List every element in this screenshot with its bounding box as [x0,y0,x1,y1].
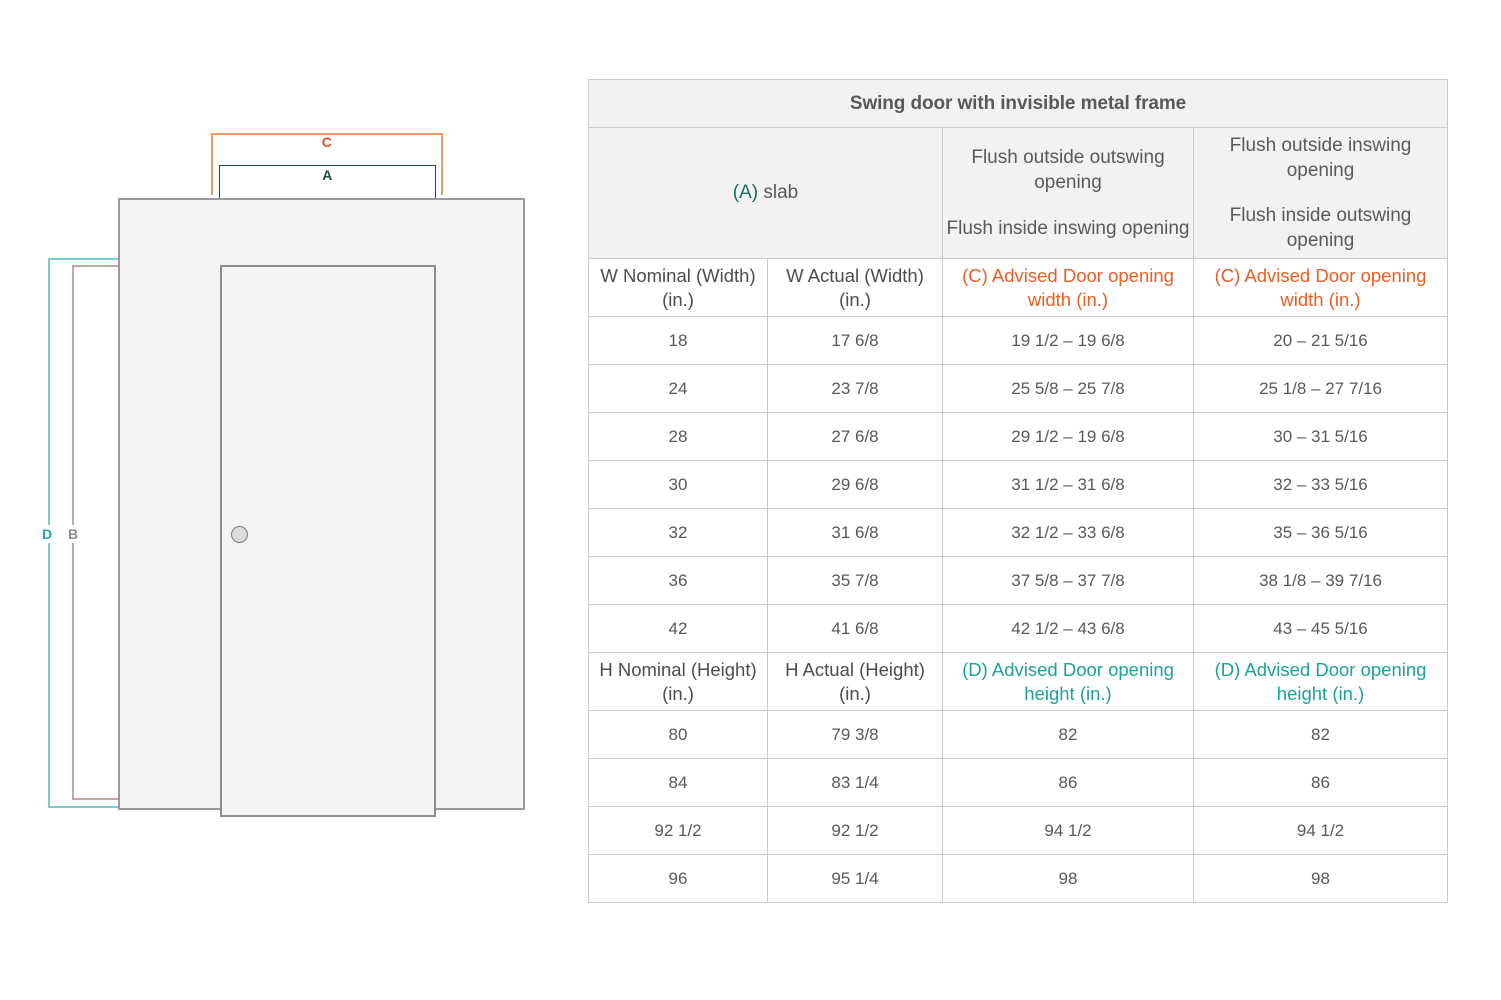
table-row: 96 95 1/4 98 98 [589,855,1448,903]
cell-h-open-inswing: 82 [1194,711,1448,759]
cell-w-nominal: 24 [589,365,768,413]
dimension-label-d: D [41,525,53,543]
cell-h-nominal: 84 [589,759,768,807]
table-row: 80 79 3/8 82 82 [589,711,1448,759]
dimension-label-b: B [67,525,79,543]
height-header-nominal: H Nominal (Height) (in.) [589,653,768,711]
group-header-slab-code: (A) [733,182,758,203]
cell-h-open-inswing: 98 [1194,855,1448,903]
cell-w-actual: 41 6/8 [768,605,943,653]
group-header-inswing-line1: Flush outside inswing opening [1194,133,1447,183]
cell-h-open-inswing: 86 [1194,759,1448,807]
cell-w-actual: 29 6/8 [768,461,943,509]
cell-w-nominal: 28 [589,413,768,461]
table-row: 28 27 6/8 29 1/2 – 19 6/8 30 – 31 5/16 [589,413,1448,461]
cell-w-open-outswing: 31 1/2 – 31 6/8 [943,461,1194,509]
table-group-header-row: (A) slab Flush outside outswing opening … [589,128,1448,259]
cell-w-open-inswing: 25 1/8 – 27 7/16 [1194,365,1448,413]
door-slab [220,265,436,817]
cell-w-nominal: 32 [589,509,768,557]
cell-h-actual: 79 3/8 [768,711,943,759]
cell-h-open-outswing: 98 [943,855,1194,903]
width-header-nominal: W Nominal (Width) (in.) [589,259,768,317]
cell-w-actual: 27 6/8 [768,413,943,461]
door-size-table: Swing door with invisible metal frame (A… [588,79,1448,903]
cell-w-open-inswing: 38 1/8 – 39 7/16 [1194,557,1448,605]
cell-h-actual: 92 1/2 [768,807,943,855]
cell-w-open-outswing: 19 1/2 – 19 6/8 [943,317,1194,365]
door-handle-icon [231,526,248,543]
group-header-outswing: Flush outside outswing opening Flush ins… [943,128,1194,259]
table-row: 84 83 1/4 86 86 [589,759,1448,807]
height-header-opening-outswing: (D) Advised Door opening height (in.) [943,653,1194,711]
cell-h-actual: 83 1/4 [768,759,943,807]
cell-w-open-outswing: 42 1/2 – 43 6/8 [943,605,1194,653]
group-header-inswing: Flush outside inswing opening Flush insi… [1194,128,1448,259]
cell-w-open-inswing: 32 – 33 5/16 [1194,461,1448,509]
table-row: 32 31 6/8 32 1/2 – 33 6/8 35 – 36 5/16 [589,509,1448,557]
cell-w-open-outswing: 29 1/2 – 19 6/8 [943,413,1194,461]
table-title: Swing door with invisible metal frame [589,80,1448,128]
table-row: 36 35 7/8 37 5/8 – 37 7/8 38 1/8 – 39 7/… [589,557,1448,605]
cell-w-open-outswing: 37 5/8 – 37 7/8 [943,557,1194,605]
group-header-outswing-line2: Flush inside inswing opening [943,216,1193,241]
cell-h-nominal: 80 [589,711,768,759]
cell-w-actual: 35 7/8 [768,557,943,605]
height-header-actual: H Actual (Height) (in.) [768,653,943,711]
door-diagram: C A D B [0,0,570,1000]
group-header-outswing-line1: Flush outside outswing opening [943,145,1193,195]
cell-h-open-outswing: 82 [943,711,1194,759]
dimension-label-c: C [211,134,443,150]
width-header-opening-outswing: (C) Advised Door opening width (in.) [943,259,1194,317]
cell-h-open-outswing: 94 1/2 [943,807,1194,855]
group-header-slab-text: slab [758,182,798,203]
group-header-inswing-line2: Flush inside outswing opening [1194,203,1447,253]
cell-w-open-outswing: 25 5/8 – 25 7/8 [943,365,1194,413]
table-row: 24 23 7/8 25 5/8 – 25 7/8 25 1/8 – 27 7/… [589,365,1448,413]
cell-h-open-outswing: 86 [943,759,1194,807]
group-header-slab: (A) slab [589,128,943,259]
table-row: 30 29 6/8 31 1/2 – 31 6/8 32 – 33 5/16 [589,461,1448,509]
cell-w-actual: 17 6/8 [768,317,943,365]
cell-h-nominal: 92 1/2 [589,807,768,855]
cell-w-actual: 31 6/8 [768,509,943,557]
cell-h-actual: 95 1/4 [768,855,943,903]
cell-w-open-inswing: 30 – 31 5/16 [1194,413,1448,461]
cell-w-open-inswing: 20 – 21 5/16 [1194,317,1448,365]
dimension-bracket-b [72,265,123,800]
table-row: 92 1/2 92 1/2 94 1/2 94 1/2 [589,807,1448,855]
table-row: 42 41 6/8 42 1/2 – 43 6/8 43 – 45 5/16 [589,605,1448,653]
table-row: 18 17 6/8 19 1/2 – 19 6/8 20 – 21 5/16 [589,317,1448,365]
width-header-row: W Nominal (Width) (in.) W Actual (Width)… [589,259,1448,317]
cell-h-open-inswing: 94 1/2 [1194,807,1448,855]
cell-w-open-inswing: 35 – 36 5/16 [1194,509,1448,557]
cell-w-open-outswing: 32 1/2 – 33 6/8 [943,509,1194,557]
cell-w-nominal: 30 [589,461,768,509]
width-header-actual: W Actual (Width) (in.) [768,259,943,317]
height-header-opening-inswing: (D) Advised Door opening height (in.) [1194,653,1448,711]
width-header-opening-inswing: (C) Advised Door opening width (in.) [1194,259,1448,317]
table-title-row: Swing door with invisible metal frame [589,80,1448,128]
cell-w-nominal: 36 [589,557,768,605]
height-header-row: H Nominal (Height) (in.) H Actual (Heigh… [589,653,1448,711]
cell-w-nominal: 18 [589,317,768,365]
cell-h-nominal: 96 [589,855,768,903]
cell-w-actual: 23 7/8 [768,365,943,413]
cell-w-nominal: 42 [589,605,768,653]
cell-w-open-inswing: 43 – 45 5/16 [1194,605,1448,653]
dimension-label-a: A [219,167,436,183]
